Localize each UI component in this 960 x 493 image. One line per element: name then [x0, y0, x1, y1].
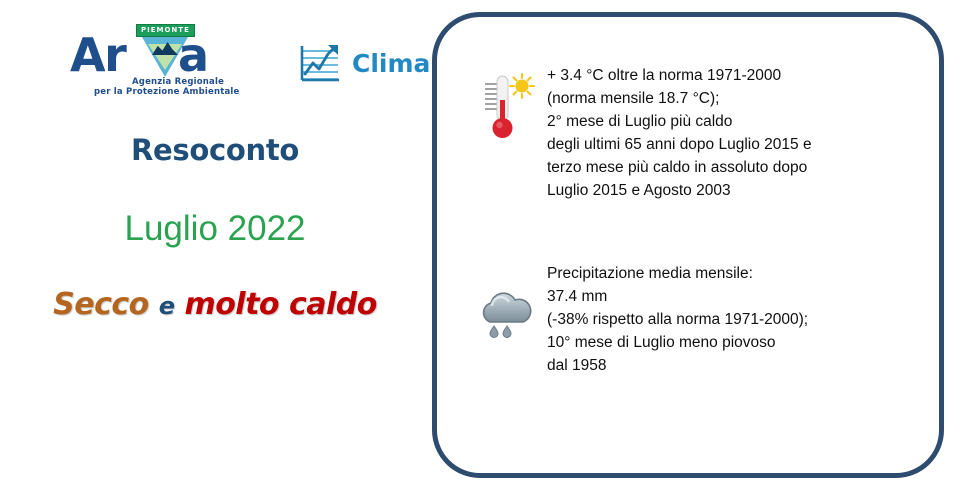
summary-conjunction: e	[159, 292, 175, 320]
summary-panel: + 3.4 °C oltre la norma 1971-2000 (norma…	[432, 12, 944, 478]
thermometer-sun-icon	[479, 70, 535, 142]
precipitation-line-5: dal 1958	[547, 354, 808, 377]
temperature-line-5: terzo mese più caldo in assoluto dopo	[547, 156, 812, 179]
precipitation-line-1: Precipitazione media mensile:	[547, 262, 808, 285]
precipitation-text-block: Precipitazione media mensile: 37.4 mm (-…	[547, 262, 808, 377]
precipitation-line-2: 37.4 mm	[547, 285, 808, 308]
arpa-tagline-line2: per la Protezione Ambientale	[94, 87, 240, 97]
line-chart-arrow-icon	[298, 42, 342, 84]
clima-logo: Clima	[298, 42, 430, 84]
arpa-tagline-line1: Agenzia Regionale	[132, 77, 224, 87]
precipitation-line-4: 10° mese di Luglio meno piovoso	[547, 331, 808, 354]
arpa-logo-text-part2: a	[178, 32, 209, 78]
page-title-resoconto: Resoconto	[0, 133, 430, 167]
temperature-line-6: Luglio 2015 e Agosto 2003	[547, 179, 812, 202]
page-title-period: Luglio 2022	[0, 209, 430, 249]
left-column: Ar a PIEMONTE Agenzia Regionale per la P…	[0, 0, 430, 493]
temperature-text-block: + 3.4 °C oltre la norma 1971-2000 (norma…	[547, 64, 812, 202]
precipitation-line-3: (-38% rispetto alla norma 1971-2000);	[547, 308, 808, 331]
branding-row: Ar a PIEMONTE Agenzia Regionale per la P…	[70, 24, 220, 99]
summary-word-dry: Secco	[53, 287, 149, 322]
temperature-line-1: + 3.4 °C oltre la norma 1971-2000	[547, 64, 812, 87]
rain-cloud-icon	[476, 286, 538, 342]
arpa-piemonte-logo: Ar a PIEMONTE Agenzia Regionale per la P…	[70, 24, 220, 99]
temperature-line-3: 2° mese di Luglio più caldo	[547, 110, 812, 133]
summary-word-hot: molto caldo	[184, 287, 376, 322]
precipitation-row: Precipitazione media mensile: 37.4 mm (-…	[467, 262, 808, 377]
arpa-logo-text-part1: Ar	[70, 32, 125, 78]
temperature-line-4: degli ultimi 65 anni dopo Luglio 2015 e	[547, 133, 812, 156]
temperature-line-2: (norma mensile 18.7 °C);	[547, 87, 812, 110]
clima-logo-label: Clima	[352, 49, 430, 78]
temperature-icon-cell	[467, 64, 547, 142]
arpa-piemonte-badge: PIEMONTE	[136, 24, 195, 37]
page-summary-line: Secco e molto caldo	[0, 287, 430, 322]
precipitation-icon-cell	[467, 262, 547, 342]
temperature-row: + 3.4 °C oltre la norma 1971-2000 (norma…	[467, 64, 812, 202]
